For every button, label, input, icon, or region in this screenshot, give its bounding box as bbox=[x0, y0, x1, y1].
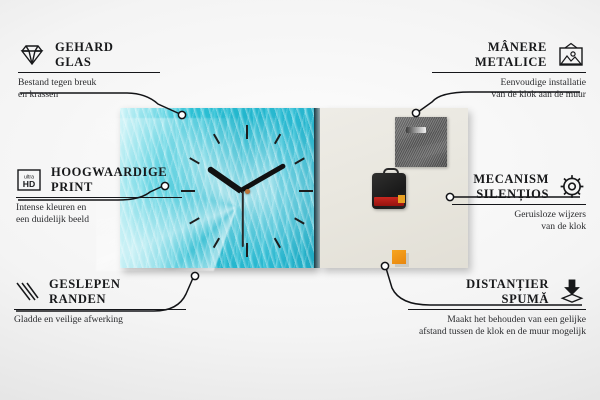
callout-distantier-spuma: DISTANȚIER SPUMĂ Maakt het behouden van … bbox=[396, 277, 586, 338]
callout-title: GESLEPEN RANDEN bbox=[49, 277, 121, 306]
callout-geslepen-randen: GESLEPEN RANDEN Gladde en veilige afwerk… bbox=[14, 277, 194, 326]
picture-frame-hanger-icon bbox=[556, 42, 586, 68]
callout-subtitle: Bestand tegen breuk en krassen bbox=[18, 77, 178, 100]
callout-subtitle: Eenvoudige installatie van de klok aan d… bbox=[420, 77, 586, 100]
callout-title: MÂNERE METALICE bbox=[475, 40, 547, 69]
beveled-edges-icon bbox=[14, 280, 40, 304]
callout-title: MECANISM SILENȚIOS bbox=[473, 172, 549, 201]
callout-mecanism-silentios: MECANISM SILENȚIOS Geruisloze wijzers va… bbox=[440, 172, 586, 233]
callout-subtitle: Maakt het behouden van een gelijke afsta… bbox=[396, 314, 586, 337]
callout-title: DISTANȚIER SPUMĂ bbox=[466, 277, 549, 306]
callout-subtitle: Gladde en veilige afwerking bbox=[14, 314, 194, 326]
callout-title: GEHARD GLAS bbox=[55, 40, 113, 69]
gear-icon bbox=[558, 173, 586, 200]
callout-title: HOOGWAARDIGE PRINT bbox=[51, 165, 167, 194]
callout-dot-manere-metalice bbox=[412, 109, 419, 116]
callout-gehard-glas: GEHARD GLAS Bestand tegen breuk en krass… bbox=[18, 40, 178, 101]
callout-dot-distantier-spuma bbox=[381, 262, 388, 269]
callout-dot-gehard-glas bbox=[178, 111, 185, 118]
diamond-icon bbox=[18, 43, 46, 67]
callout-subtitle: Geruisloze wijzers van de klok bbox=[440, 209, 586, 232]
callout-rule bbox=[16, 197, 182, 198]
callout-rule bbox=[18, 72, 160, 73]
ultra-hd-icon: ultra HD bbox=[16, 168, 42, 192]
callout-rule bbox=[432, 72, 586, 73]
callout-rule bbox=[408, 309, 586, 310]
foam-spacer-arrow-icon bbox=[558, 278, 586, 305]
callout-hoogwaardige-print: ultra HD HOOGWAARDIGE PRINT Intense kleu… bbox=[16, 165, 196, 226]
callout-subtitle: Intense kleuren en een duidelijk beeld bbox=[16, 202, 196, 225]
callout-rule bbox=[14, 309, 186, 310]
callout-rule bbox=[452, 204, 586, 205]
infographic-canvas: GEHARD GLAS Bestand tegen breuk en krass… bbox=[0, 0, 600, 400]
callout-manere-metalice: MÂNERE METALICE Eenvoudige installatie v… bbox=[420, 40, 586, 101]
svg-text:HD: HD bbox=[23, 179, 35, 189]
